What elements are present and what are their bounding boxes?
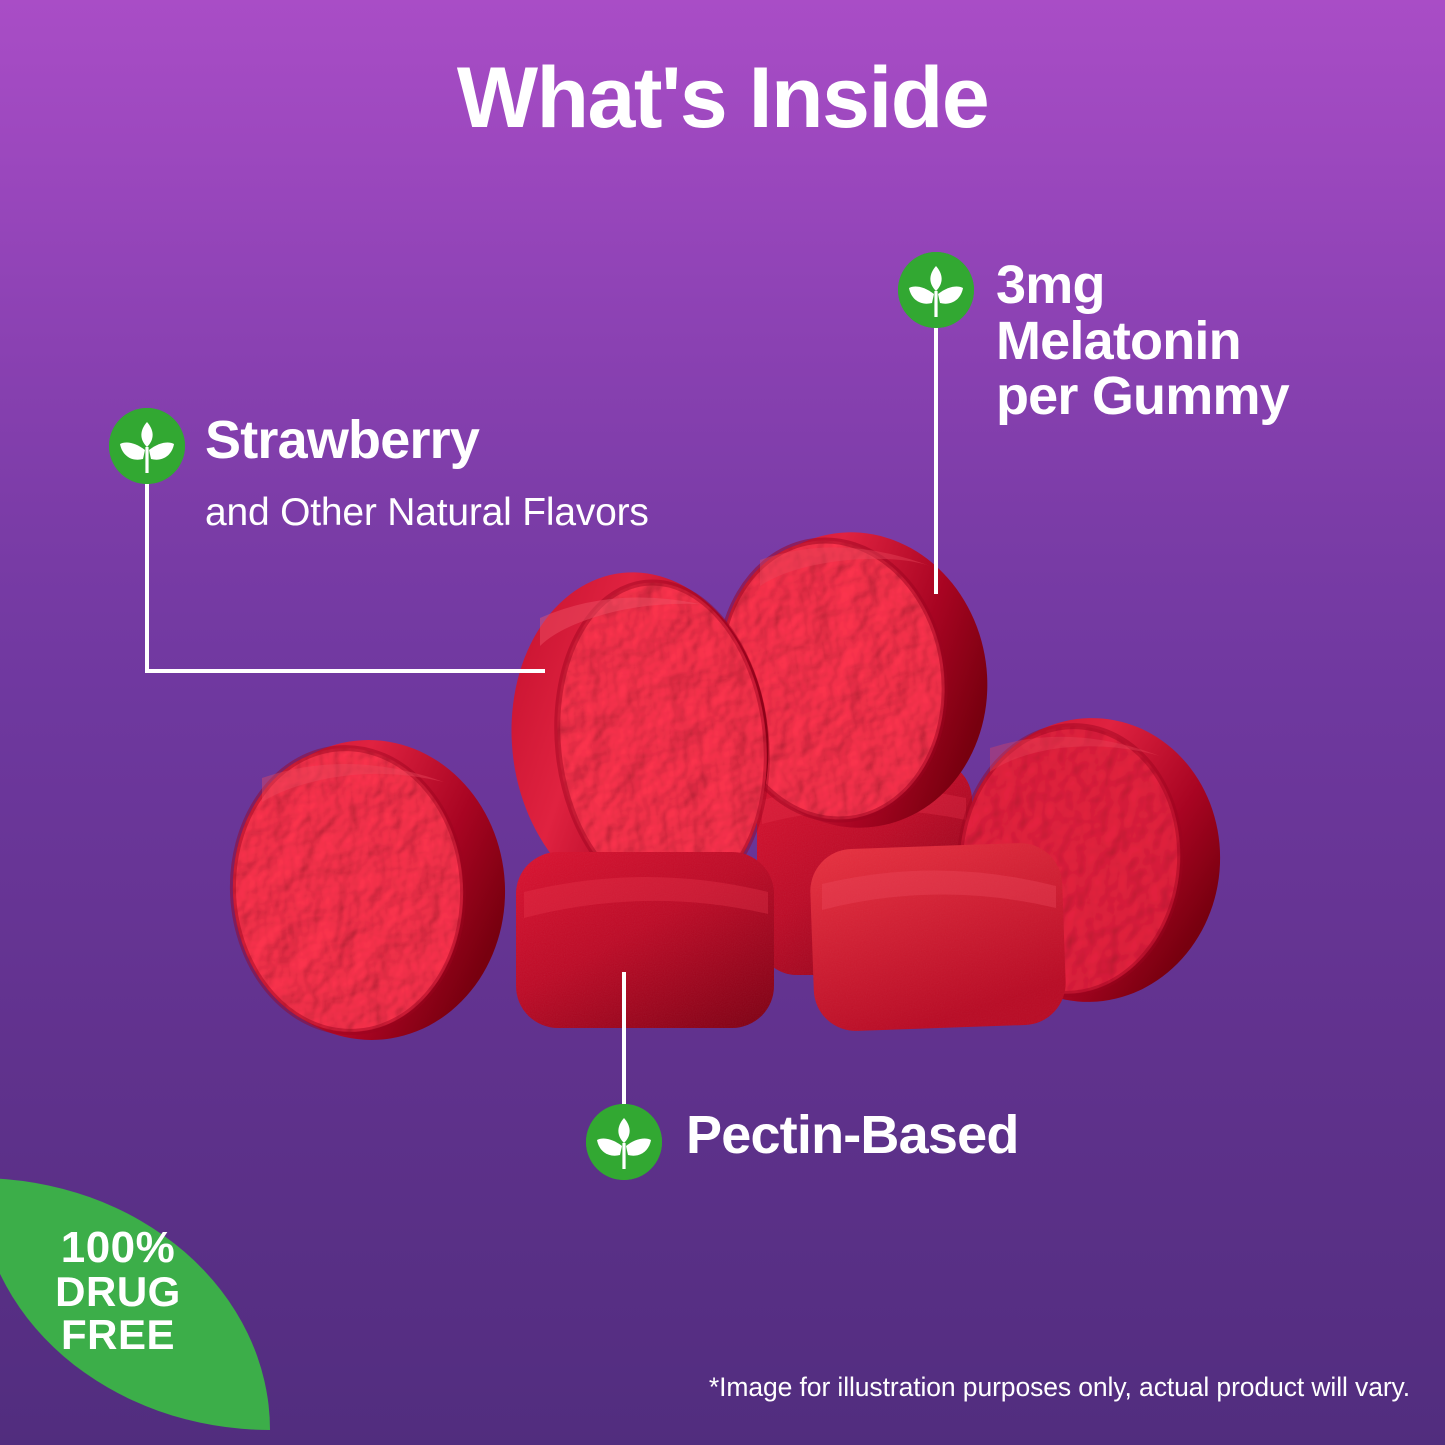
gummy-front-block-left xyxy=(516,852,774,1028)
gummy-disc-right xyxy=(948,707,1232,1013)
connector-strawberry-horizontal xyxy=(145,669,545,673)
connector-pectin-vertical xyxy=(622,972,626,1106)
page-title: What's Inside xyxy=(0,55,1445,141)
gummy-front-block-right xyxy=(809,842,1067,1033)
gummy-disc-upper-right xyxy=(702,515,1007,845)
connector-strawberry-vertical xyxy=(145,478,149,673)
callout-heading-pectin: Pectin-Based xyxy=(686,1108,1019,1164)
connector-melatonin-vertical xyxy=(934,322,938,594)
callout-subtext-strawberry: and Other Natural Flavors xyxy=(205,492,649,535)
leaf-sprout-icon-strawberry xyxy=(109,408,185,484)
gummy-back-block xyxy=(757,760,972,975)
leaf-sprout-icon-pectin xyxy=(586,1104,662,1180)
gummy-disc-center xyxy=(495,560,785,921)
infographic-canvas: What's Inside xyxy=(0,0,1445,1445)
callout-heading-melatonin: 3mg Melatonin per Gummy xyxy=(996,258,1289,425)
drug-free-line-1: 100% xyxy=(14,1226,222,1271)
disclaimer-text: *Image for illustration purposes only, a… xyxy=(0,1372,1410,1403)
drug-free-line-3: FREE xyxy=(14,1314,222,1357)
leaf-sprout-icon-melatonin xyxy=(898,252,974,328)
callout-heading-strawberry: Strawberry xyxy=(205,413,479,469)
drug-free-text: 100% DRUG FREE xyxy=(14,1226,222,1357)
gummy-disc-left xyxy=(226,733,513,1047)
drug-free-line-2: DRUG xyxy=(14,1271,222,1314)
